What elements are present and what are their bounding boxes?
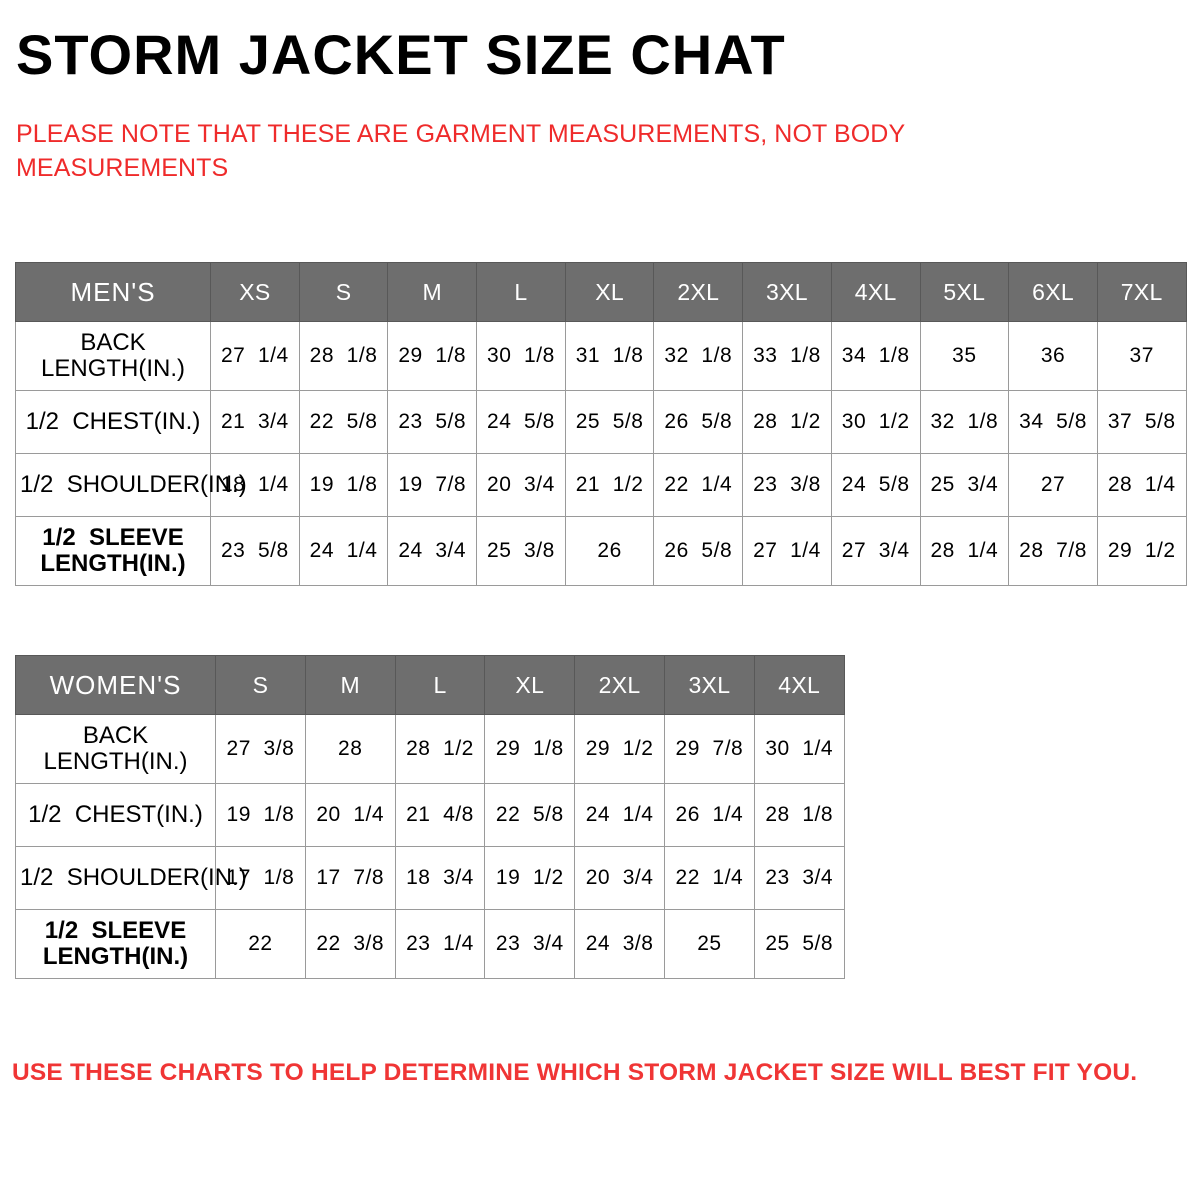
page-title: STORM JACKET SIZE CHAT — [16, 26, 786, 85]
measurement-cell: 34 1/8 — [831, 322, 920, 391]
measurement-cell: 24 5/8 — [831, 454, 920, 517]
measurement-cell: 24 1/4 — [575, 784, 665, 847]
measurement-cell: 19 1/2 — [485, 847, 575, 910]
measurement-cell: 18 3/4 — [395, 847, 485, 910]
measurement-cell: 19 1/8 — [216, 784, 306, 847]
measurement-cell: 34 5/8 — [1009, 391, 1098, 454]
measurement-cell: 37 5/8 — [1097, 391, 1186, 454]
measurement-cell: 22 3/8 — [305, 910, 395, 979]
measurement-cell: 28 1/2 — [395, 715, 485, 784]
measurement-cell: 22 5/8 — [299, 391, 388, 454]
measurement-cell: 29 1/2 — [575, 715, 665, 784]
mens-size-table: MEN'SXSSMLXL2XL3XL4XL5XL6XL7XL BACKLENGT… — [15, 262, 1187, 586]
womens-header-row: WOMEN'SSMLXL2XL3XL4XL — [16, 656, 845, 715]
womens-row-label: BACKLENGTH(IN.) — [16, 715, 216, 784]
womens-corner-header: WOMEN'S — [16, 656, 216, 715]
womens-size-header-l: L — [395, 656, 485, 715]
measurement-cell: 20 3/4 — [575, 847, 665, 910]
mens-size-header-xs: XS — [211, 263, 300, 322]
womens-size-table-container: WOMEN'SSMLXL2XL3XL4XL BACKLENGTH(IN.)27 … — [15, 655, 844, 979]
measurement-cell: 17 1/8 — [216, 847, 306, 910]
measurement-cell: 27 1/4 — [743, 517, 832, 586]
measurement-cell: 25 3/4 — [920, 454, 1009, 517]
table-row: 1/2 CHEST(IN.)19 1/820 1/421 4/822 5/824… — [16, 784, 845, 847]
measurement-cell: 28 7/8 — [1009, 517, 1098, 586]
measurement-cell: 24 3/4 — [388, 517, 477, 586]
measurement-cell: 30 1/4 — [754, 715, 844, 784]
womens-size-header-3xl: 3XL — [664, 656, 754, 715]
measurement-cell: 27 — [1009, 454, 1098, 517]
mens-size-header-4xl: 4XL — [831, 263, 920, 322]
measurement-cell: 23 5/8 — [388, 391, 477, 454]
table-row: 1/2 SLEEVELENGTH(IN.)23 5/824 1/424 3/42… — [16, 517, 1187, 586]
measurement-cell: 23 3/8 — [743, 454, 832, 517]
measurement-cell: 26 — [565, 517, 654, 586]
measurement-cell: 24 1/4 — [299, 517, 388, 586]
mens-row-label: BACKLENGTH(IN.) — [16, 322, 211, 391]
measurement-cell: 18 1/4 — [211, 454, 300, 517]
measurement-cell: 36 — [1009, 322, 1098, 391]
measurement-cell: 23 1/4 — [395, 910, 485, 979]
mens-row-label: 1/2 SHOULDER(IN.) — [16, 454, 211, 517]
measurement-cell: 28 1/2 — [743, 391, 832, 454]
womens-table-head: WOMEN'SSMLXL2XL3XL4XL — [16, 656, 845, 715]
measurement-cell: 22 — [216, 910, 306, 979]
garment-measurement-note: PLEASE NOTE THAT THESE ARE GARMENT MEASU… — [16, 118, 966, 186]
measurement-cell: 26 5/8 — [654, 391, 743, 454]
measurement-cell: 23 5/8 — [211, 517, 300, 586]
size-chart-page: STORM JACKET SIZE CHAT PLEASE NOTE THAT … — [0, 0, 1200, 1200]
table-row: 1/2 SLEEVELENGTH(IN.)2222 3/823 1/423 3/… — [16, 910, 845, 979]
mens-table-body: BACKLENGTH(IN.)27 1/428 1/829 1/830 1/83… — [16, 322, 1187, 586]
measurement-cell: 22 1/4 — [654, 454, 743, 517]
womens-table-body: BACKLENGTH(IN.)27 3/82828 1/229 1/829 1/… — [16, 715, 845, 979]
table-row: 1/2 SHOULDER(IN.)17 1/817 7/818 3/419 1/… — [16, 847, 845, 910]
measurement-cell: 30 1/2 — [831, 391, 920, 454]
measurement-cell: 20 1/4 — [305, 784, 395, 847]
measurement-cell: 28 1/8 — [754, 784, 844, 847]
womens-size-header-xl: XL — [485, 656, 575, 715]
measurement-cell: 37 — [1097, 322, 1186, 391]
measurement-cell: 26 1/4 — [664, 784, 754, 847]
measurement-cell: 21 4/8 — [395, 784, 485, 847]
mens-size-header-2xl: 2XL — [654, 263, 743, 322]
womens-size-header-4xl: 4XL — [754, 656, 844, 715]
mens-size-header-6xl: 6XL — [1009, 263, 1098, 322]
measurement-cell: 27 1/4 — [211, 322, 300, 391]
mens-size-header-3xl: 3XL — [743, 263, 832, 322]
measurement-cell: 22 1/4 — [664, 847, 754, 910]
mens-size-header-l: L — [477, 263, 566, 322]
measurement-cell: 28 1/4 — [1097, 454, 1186, 517]
fit-guidance-note: USE THESE CHARTS TO HELP DETERMINE WHICH… — [12, 1058, 1152, 1087]
measurement-cell: 19 1/8 — [299, 454, 388, 517]
mens-size-header-m: M — [388, 263, 477, 322]
measurement-cell: 30 1/8 — [477, 322, 566, 391]
measurement-cell: 31 1/8 — [565, 322, 654, 391]
mens-size-header-7xl: 7XL — [1097, 263, 1186, 322]
measurement-cell: 28 — [305, 715, 395, 784]
measurement-cell: 26 5/8 — [654, 517, 743, 586]
mens-header-row: MEN'SXSSMLXL2XL3XL4XL5XL6XL7XL — [16, 263, 1187, 322]
measurement-cell: 17 7/8 — [305, 847, 395, 910]
measurement-cell: 28 1/8 — [299, 322, 388, 391]
measurement-cell: 19 7/8 — [388, 454, 477, 517]
mens-size-header-5xl: 5XL — [920, 263, 1009, 322]
measurement-cell: 27 3/4 — [831, 517, 920, 586]
measurement-cell: 29 1/8 — [388, 322, 477, 391]
measurement-cell: 25 5/8 — [565, 391, 654, 454]
mens-row-label: 1/2 CHEST(IN.) — [16, 391, 211, 454]
table-row: 1/2 SHOULDER(IN.)18 1/419 1/819 7/820 3/… — [16, 454, 1187, 517]
womens-size-header-2xl: 2XL — [575, 656, 665, 715]
measurement-cell: 29 1/8 — [485, 715, 575, 784]
table-row: BACKLENGTH(IN.)27 1/428 1/829 1/830 1/83… — [16, 322, 1187, 391]
mens-table-head: MEN'SXSSMLXL2XL3XL4XL5XL6XL7XL — [16, 263, 1187, 322]
measurement-cell: 25 5/8 — [754, 910, 844, 979]
measurement-cell: 32 1/8 — [654, 322, 743, 391]
measurement-cell: 32 1/8 — [920, 391, 1009, 454]
mens-corner-header: MEN'S — [16, 263, 211, 322]
measurement-cell: 22 5/8 — [485, 784, 575, 847]
measurement-cell: 25 — [664, 910, 754, 979]
table-row: 1/2 CHEST(IN.)21 3/422 5/823 5/824 5/825… — [16, 391, 1187, 454]
table-row: BACKLENGTH(IN.)27 3/82828 1/229 1/829 1/… — [16, 715, 845, 784]
measurement-cell: 33 1/8 — [743, 322, 832, 391]
measurement-cell: 35 — [920, 322, 1009, 391]
measurement-cell: 23 3/4 — [485, 910, 575, 979]
measurement-cell: 29 7/8 — [664, 715, 754, 784]
womens-row-label: 1/2 SLEEVELENGTH(IN.) — [16, 910, 216, 979]
measurement-cell: 28 1/4 — [920, 517, 1009, 586]
measurement-cell: 25 3/8 — [477, 517, 566, 586]
womens-row-label: 1/2 CHEST(IN.) — [16, 784, 216, 847]
womens-row-label: 1/2 SHOULDER(IN.) — [16, 847, 216, 910]
measurement-cell: 20 3/4 — [477, 454, 566, 517]
measurement-cell: 24 5/8 — [477, 391, 566, 454]
womens-size-header-s: S — [216, 656, 306, 715]
mens-size-header-s: S — [299, 263, 388, 322]
mens-size-table-container: MEN'SXSSMLXL2XL3XL4XL5XL6XL7XL BACKLENGT… — [15, 262, 1186, 586]
measurement-cell: 21 3/4 — [211, 391, 300, 454]
measurement-cell: 21 1/2 — [565, 454, 654, 517]
mens-row-label: 1/2 SLEEVELENGTH(IN.) — [16, 517, 211, 586]
womens-size-table: WOMEN'SSMLXL2XL3XL4XL BACKLENGTH(IN.)27 … — [15, 655, 845, 979]
womens-size-header-m: M — [305, 656, 395, 715]
measurement-cell: 27 3/8 — [216, 715, 306, 784]
measurement-cell: 29 1/2 — [1097, 517, 1186, 586]
measurement-cell: 23 3/4 — [754, 847, 844, 910]
mens-size-header-xl: XL — [565, 263, 654, 322]
measurement-cell: 24 3/8 — [575, 910, 665, 979]
